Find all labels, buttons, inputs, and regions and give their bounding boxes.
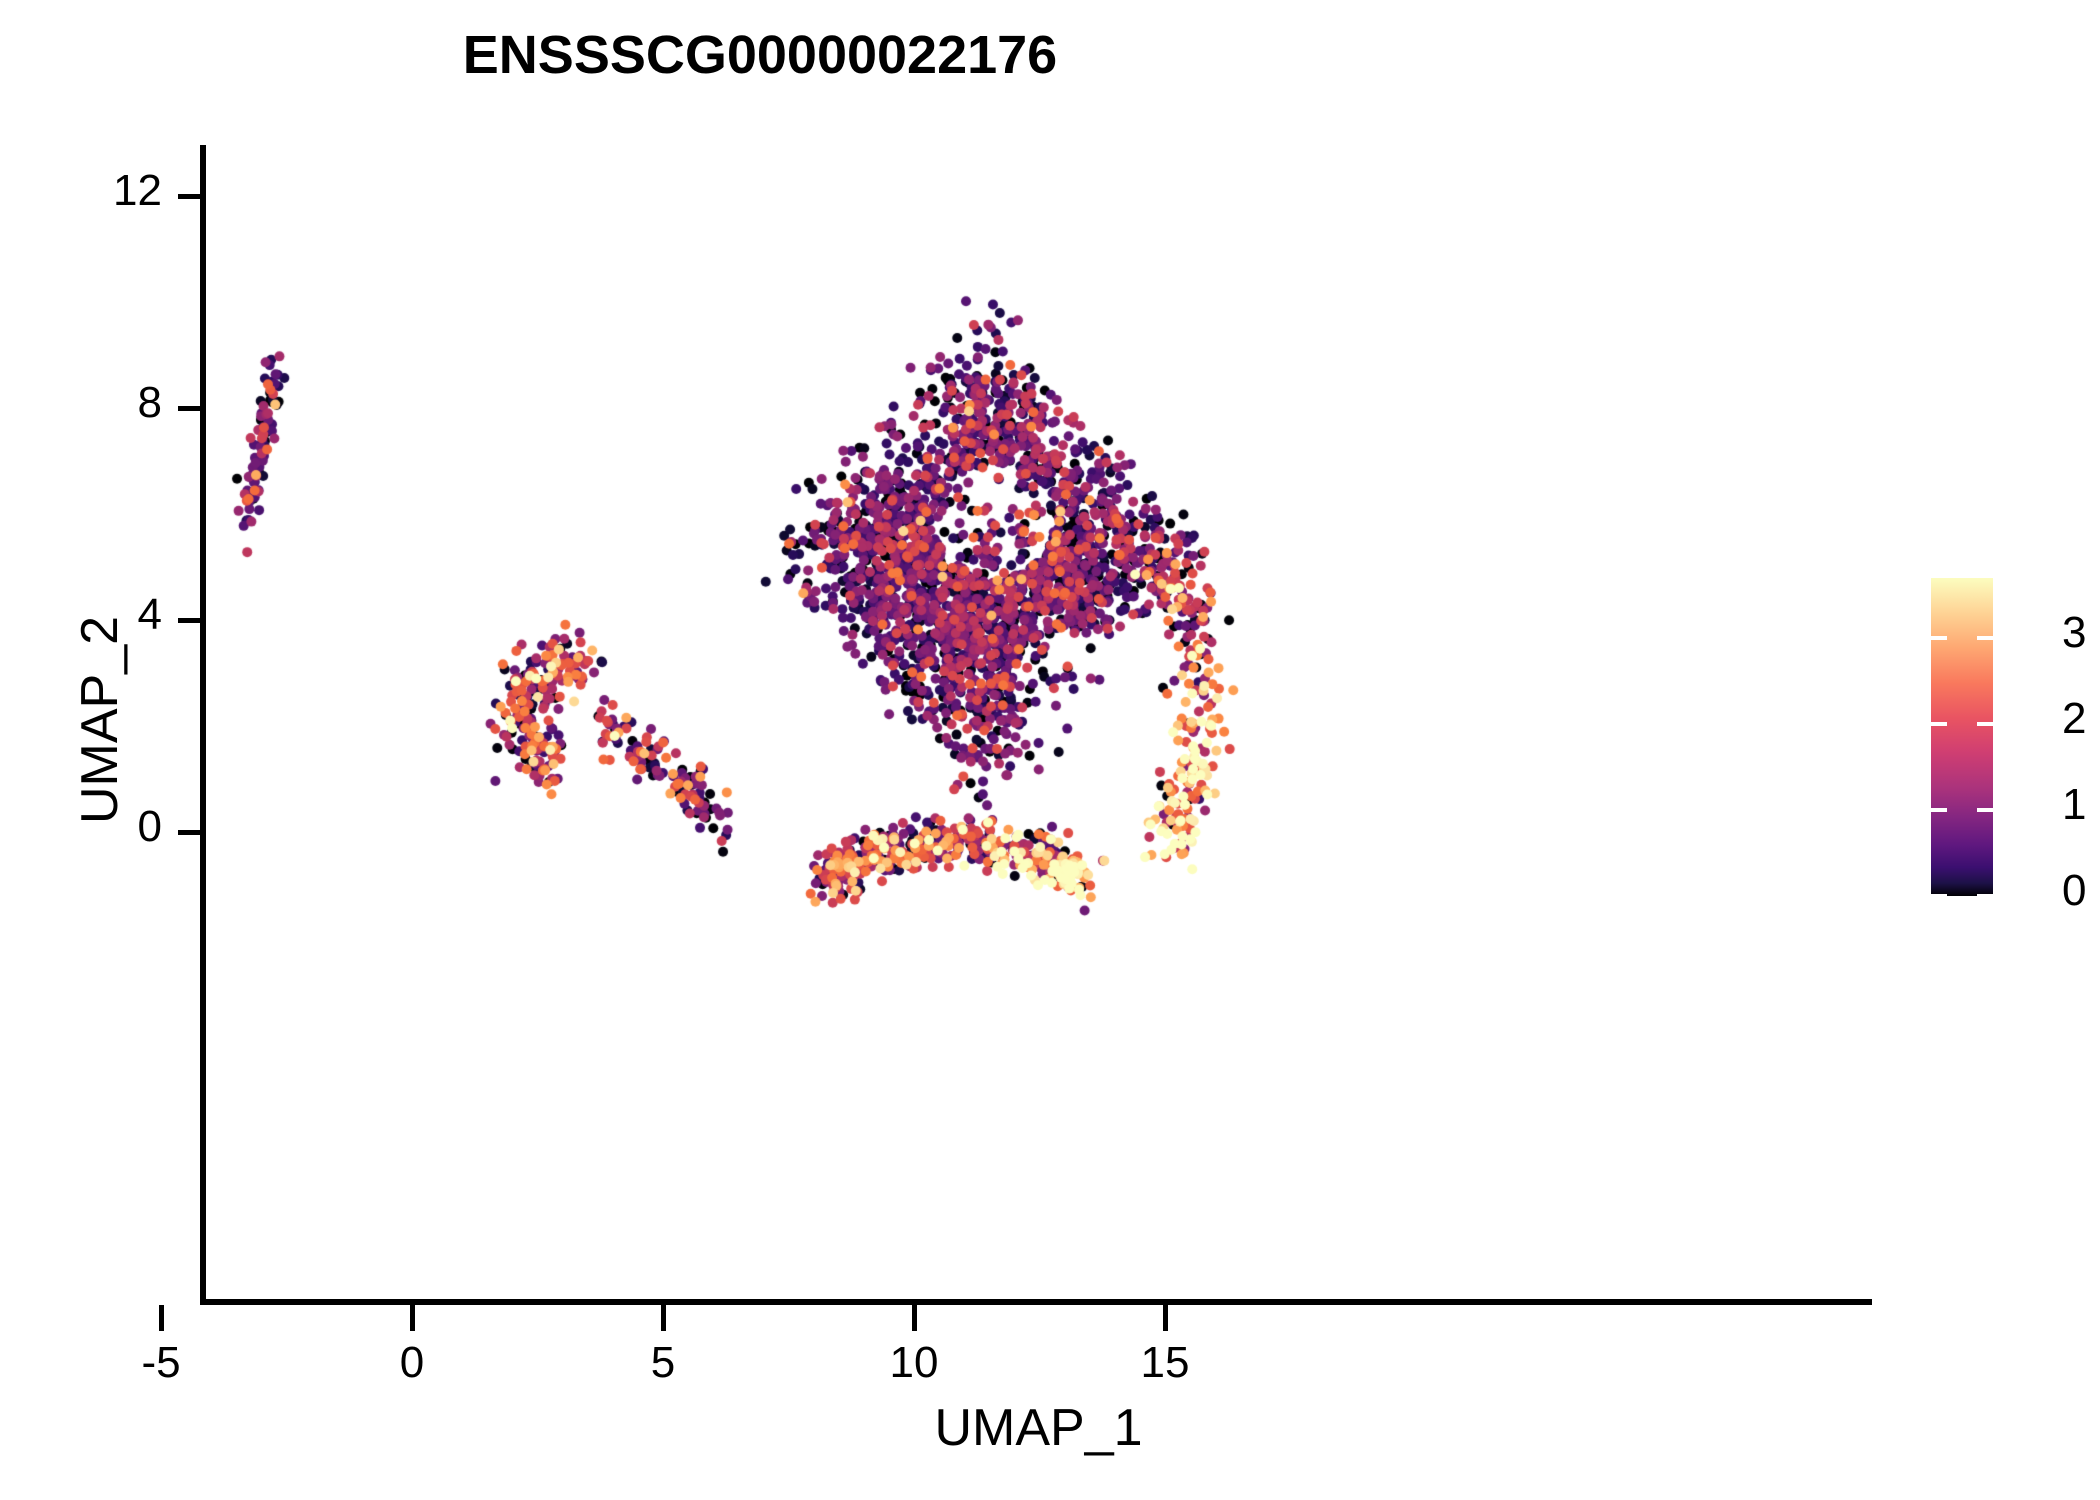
x-axis-line [200,1299,1872,1305]
colorbar-gradient [1931,578,1993,896]
colorbar-tick-mark [1931,722,1947,726]
chart-root: ENSSSCG00000022176 04812 -5051015 UMAP_1… [0,0,2100,1500]
x-tick-label: 15 [1085,1338,1245,1388]
colorbar [1931,578,1993,896]
colorbar-tick-mark [1931,894,1947,898]
y-tick-label: 4 [138,590,162,640]
y-axis-label: UMAP_2 [70,410,130,1030]
plot-area [205,145,1872,1302]
x-tick-mark [159,1305,164,1331]
y-tick-mark [178,618,202,623]
y-tick-mark [178,406,202,411]
x-tick-mark [912,1305,917,1331]
colorbar-tick-label: 2 [2062,694,2086,744]
y-axis-line [200,145,206,1305]
x-tick-mark [410,1305,415,1331]
y-tick-label: 12 [113,166,162,216]
colorbar-tick-label: 1 [2062,780,2086,830]
colorbar-tick-mark [1931,808,1947,812]
y-tick-label: 0 [138,802,162,852]
colorbar-tick-label: 3 [2062,608,2086,658]
chart-title: ENSSSCG00000022176 [0,24,1520,86]
y-tick-label: 8 [138,378,162,428]
x-tick-label: 10 [834,1338,994,1388]
x-tick-label: 0 [332,1338,492,1388]
x-tick-mark [1163,1305,1168,1331]
colorbar-tick-mark [1977,808,1993,812]
colorbar-tick-mark [1931,636,1947,640]
y-tick-mark [178,194,202,199]
colorbar-tick-mark [1977,722,1993,726]
y-tick-mark [178,830,202,835]
colorbar-tick-mark [1977,894,1993,898]
x-tick-label: -5 [81,1338,241,1388]
scatter-canvas [205,145,1872,1302]
colorbar-tick-label: 0 [2062,866,2086,916]
x-tick-mark [661,1305,666,1331]
x-axis-label: UMAP_1 [205,1398,1872,1458]
colorbar-tick-mark [1977,636,1993,640]
x-tick-label: 5 [583,1338,743,1388]
